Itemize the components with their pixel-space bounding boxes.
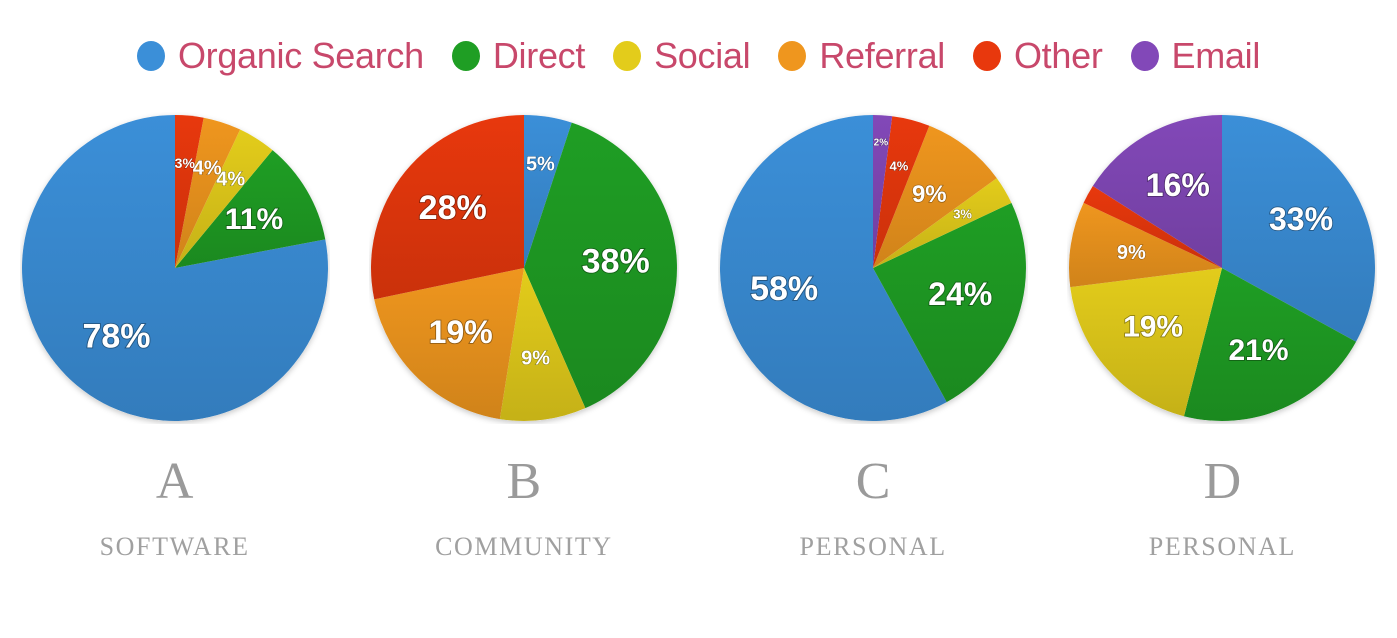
pie-slice-label: 2%	[874, 137, 889, 148]
pie-letter-label: C	[856, 454, 891, 510]
legend-item-label: Email	[1172, 38, 1261, 74]
pie-slice-label: 21%	[1229, 334, 1289, 367]
pie-slice-label: 16%	[1146, 167, 1210, 203]
pie-slice-label: 9%	[1117, 242, 1146, 264]
legend-item-referral[interactable]: Referral	[778, 38, 945, 74]
pie-chart-d: 33%21%19%9%16%DPERSONAL	[1052, 112, 1392, 562]
legend-item-organic-search[interactable]: Organic Search	[137, 38, 424, 74]
pie-slice-label: 28%	[419, 189, 487, 227]
legend-item-label: Other	[1014, 38, 1103, 74]
pie-slice-label: 3%	[953, 206, 972, 221]
legend-dot-icon	[137, 41, 165, 71]
pie-slice-label: 24%	[928, 276, 992, 312]
legend-item-email[interactable]: Email	[1131, 38, 1261, 74]
legend-dot-icon	[778, 41, 806, 71]
legend-item-direct[interactable]: Direct	[452, 38, 585, 74]
pie-category-label: PERSONAL	[800, 532, 947, 562]
pie-slice-label: 19%	[429, 314, 493, 350]
pie-slice-label: 58%	[750, 270, 818, 308]
legend-dot-icon	[973, 41, 1001, 71]
pie-slice-label: 3%	[174, 155, 195, 171]
pie-slice-label: 4%	[890, 159, 909, 174]
pie-graphic[interactable]: 78%11%4%4%3%	[20, 112, 330, 424]
legend-item-label: Organic Search	[178, 38, 424, 74]
pie-graphic[interactable]: 5%38%9%19%28%	[369, 112, 679, 424]
legend-item-label: Referral	[819, 38, 945, 74]
legend-item-label: Direct	[493, 38, 585, 74]
pie-chart-c: 58%24%3%9%4%2%CPERSONAL	[703, 112, 1043, 562]
legend-item-label: Social	[654, 38, 750, 74]
pie-slice-label: 9%	[521, 347, 550, 369]
legend-item-other[interactable]: Other	[973, 38, 1103, 74]
pie-graphic[interactable]: 33%21%19%9%16%	[1067, 112, 1377, 424]
legend-item-social[interactable]: Social	[613, 38, 750, 74]
legend-dot-icon	[452, 41, 480, 71]
pie-letter-label: D	[1204, 454, 1242, 510]
chart-legend: Organic SearchDirectSocialReferralOtherE…	[0, 0, 1397, 112]
pie-letter-label: A	[156, 454, 194, 510]
pie-graphic[interactable]: 58%24%3%9%4%2%	[718, 112, 1028, 424]
legend-dot-icon	[1131, 41, 1159, 71]
pie-category-label: SOFTWARE	[100, 532, 250, 562]
pie-chart-row: 78%11%4%4%3%ASOFTWARE5%38%9%19%28%BCOMMU…	[0, 112, 1397, 638]
pie-slice-label: 38%	[582, 243, 650, 281]
legend-dot-icon	[613, 41, 641, 71]
pie-category-label: PERSONAL	[1149, 532, 1296, 562]
pie-slice-label: 5%	[526, 154, 555, 176]
pie-slice-label: 9%	[912, 181, 947, 208]
pie-letter-label: B	[507, 454, 542, 510]
pie-category-label: COMMUNITY	[435, 532, 613, 562]
pie-slice-label: 78%	[82, 318, 150, 356]
pie-slice-label: 33%	[1269, 201, 1333, 237]
pie-slice-label: 11%	[224, 203, 282, 236]
pie-chart-a: 78%11%4%4%3%ASOFTWARE	[5, 112, 345, 562]
pie-slice-label: 4%	[192, 157, 221, 179]
pie-slice-label: 19%	[1123, 311, 1183, 344]
pie-chart-b: 5%38%9%19%28%BCOMMUNITY	[354, 112, 694, 562]
